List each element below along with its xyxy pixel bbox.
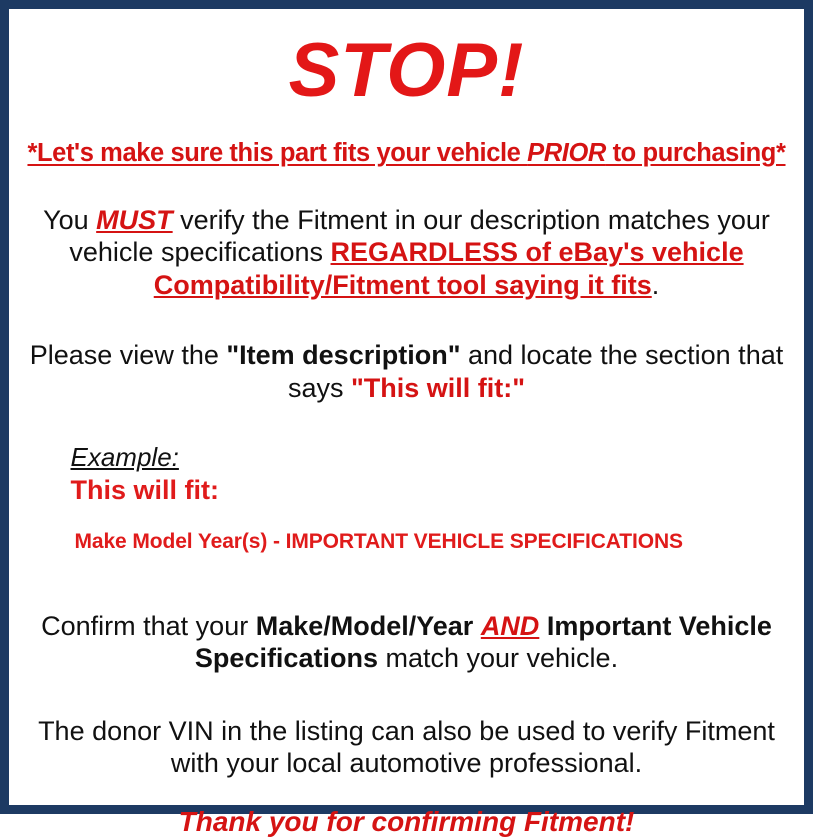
paragraph-item-description: Please view the "Item description" and l…: [27, 339, 787, 404]
paragraph-must-verify: You MUST verify the Fitment in our descr…: [27, 204, 787, 301]
confirm-text-2: match your vehicle.: [378, 643, 618, 673]
confirm-text-1: Confirm that your: [41, 611, 256, 641]
fitment-notice-body: STOP! *Let's make sure this part fits yo…: [9, 9, 804, 805]
confirm-bold-make-model-year: Make/Model/Year: [256, 611, 481, 641]
example-label: Example:: [71, 442, 179, 473]
example-block: Example: This will fit: Make Model Year(…: [27, 442, 787, 554]
view-bold-item-description: "Item description": [226, 340, 460, 370]
fitment-notice-frame: STOP! *Let's make sure this part fits yo…: [0, 0, 813, 814]
tagline-banner: *Let's make sure this part fits your veh…: [21, 139, 792, 168]
must-text-1: You: [43, 205, 96, 235]
view-red-this-will-fit: "This will fit:": [351, 373, 525, 403]
thank-you-line: Thank you for confirming Fitment!: [21, 806, 792, 838]
paragraph-confirm-match: Confirm that your Make/Model/Year AND Im…: [27, 610, 787, 675]
tagline-emphasis-prior: PRIOR: [527, 139, 606, 167]
example-spec-line: Make Model Year(s) - IMPORTANT VEHICLE S…: [71, 530, 787, 554]
view-text-1: Please view the: [30, 340, 227, 370]
must-emphasis-must: MUST: [96, 205, 173, 235]
tagline-text-before: *Let's make sure this part fits your veh…: [27, 139, 527, 167]
tagline-text-after: to purchasing*: [606, 139, 786, 167]
example-label-row: Example:: [71, 442, 787, 473]
example-fit-heading: This will fit:: [71, 475, 787, 506]
must-text-3: .: [652, 270, 660, 300]
paragraph-donor-vin: The donor VIN in the listing can also be…: [27, 715, 787, 780]
page-title: STOP!: [21, 33, 792, 109]
confirm-emphasis-and: AND: [481, 611, 540, 641]
